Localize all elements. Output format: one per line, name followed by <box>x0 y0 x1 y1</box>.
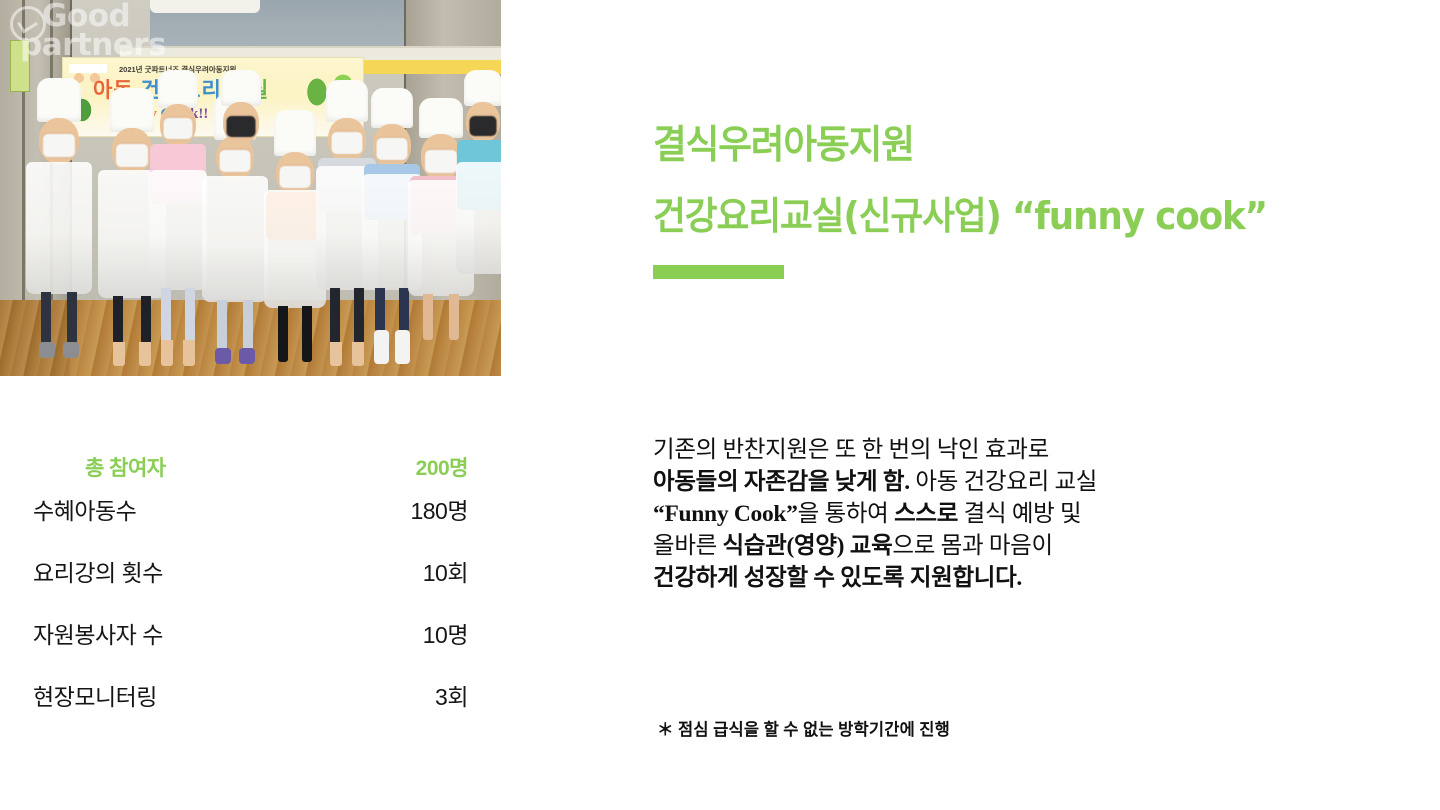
stat-label: 현장모니터링 <box>33 678 157 712</box>
stat-value: 3회 <box>435 678 468 712</box>
description-text-bold: 건강하게 성장할 수 있도록 지원합니다. <box>653 565 1022 591</box>
description-text-bold: 식습관(영양) 교육 <box>723 533 893 559</box>
table-row: 자원봉사자 수 10명 <box>0 616 501 678</box>
title-underline-rule <box>653 265 784 279</box>
stat-label: 요리강의 횟수 <box>33 554 163 588</box>
event-photo: 2021년 굿파트너즈 결식우려아동지원 아동 건강요리 교실 Funny Co… <box>0 0 501 376</box>
description-text: 아동 건강요리 교실 <box>910 469 1097 495</box>
footnote: ＊ 점심 급식을 할 수 없는 방학기간에 진행 <box>657 716 950 740</box>
description-text: 결식 예방 및 <box>958 501 1081 527</box>
stats-table: 총 참여자 200명 수혜아동수 180명 요리강의 횟수 10회 자원봉사자 … <box>0 452 501 740</box>
page-title: 결식우려아동지원 건강요리교실(신규사업) “funny cook” <box>653 126 1413 235</box>
description-text-bold: “Funny Cook” <box>653 501 798 527</box>
table-row: 수혜아동수 180명 <box>0 492 501 554</box>
description-text-bold: 스스로 <box>894 501 958 527</box>
description-paragraph: 기존의 반찬지원은 또 한 번의 낙인 효과로 아동들의 자존감을 낮게 함. … <box>653 434 1253 594</box>
description-text-bold: 아동들의 자존감을 낮게 함. <box>653 469 910 495</box>
table-row: 현장모니터링 3회 <box>0 678 501 740</box>
stats-header-value: 200명 <box>416 452 468 482</box>
description-line-2: 아동들의 자존감을 낮게 함. 아동 건강요리 교실 <box>653 466 1253 498</box>
photo-ceiling-light <box>150 0 260 13</box>
stats-header-label: 총 참여자 <box>85 452 166 482</box>
page-title-line-2: 건강요리교실(신규사업) “funny cook” <box>653 197 1367 235</box>
description-text: 기존의 반찬지원은 또 한 번의 낙인 효과로 <box>653 437 1049 463</box>
photo-child <box>20 70 98 370</box>
description-text: 올바른 <box>653 533 723 559</box>
slide-canvas: 2021년 굿파트너즈 결식우려아동지원 아동 건강요리 교실 Funny Co… <box>0 0 1440 810</box>
description-line-4: 올바른 식습관(영양) 교육으로 몸과 마음이 <box>653 530 1253 562</box>
stat-value: 10회 <box>423 554 468 588</box>
stat-label: 자원봉사자 수 <box>33 616 163 650</box>
description-text: 을 통하여 <box>798 501 894 527</box>
page-title-line-1: 결식우려아동지원 <box>653 126 1367 165</box>
stat-label: 수혜아동수 <box>33 492 136 526</box>
table-row: 요리강의 횟수 10회 <box>0 554 501 616</box>
description-text: 으로 몸과 마음이 <box>892 533 1052 559</box>
description-line-3: “Funny Cook”을 통하여 스스로 결식 예방 및 <box>653 498 1253 530</box>
description-line-1: 기존의 반찬지원은 또 한 번의 낙인 효과로 <box>653 434 1253 466</box>
description-line-5: 건강하게 성장할 수 있도록 지원합니다. <box>653 562 1253 594</box>
stat-value: 10명 <box>423 616 468 650</box>
stats-header-row: 총 참여자 200명 <box>0 452 501 492</box>
photo-child <box>452 70 501 370</box>
stat-value: 180명 <box>410 492 468 526</box>
